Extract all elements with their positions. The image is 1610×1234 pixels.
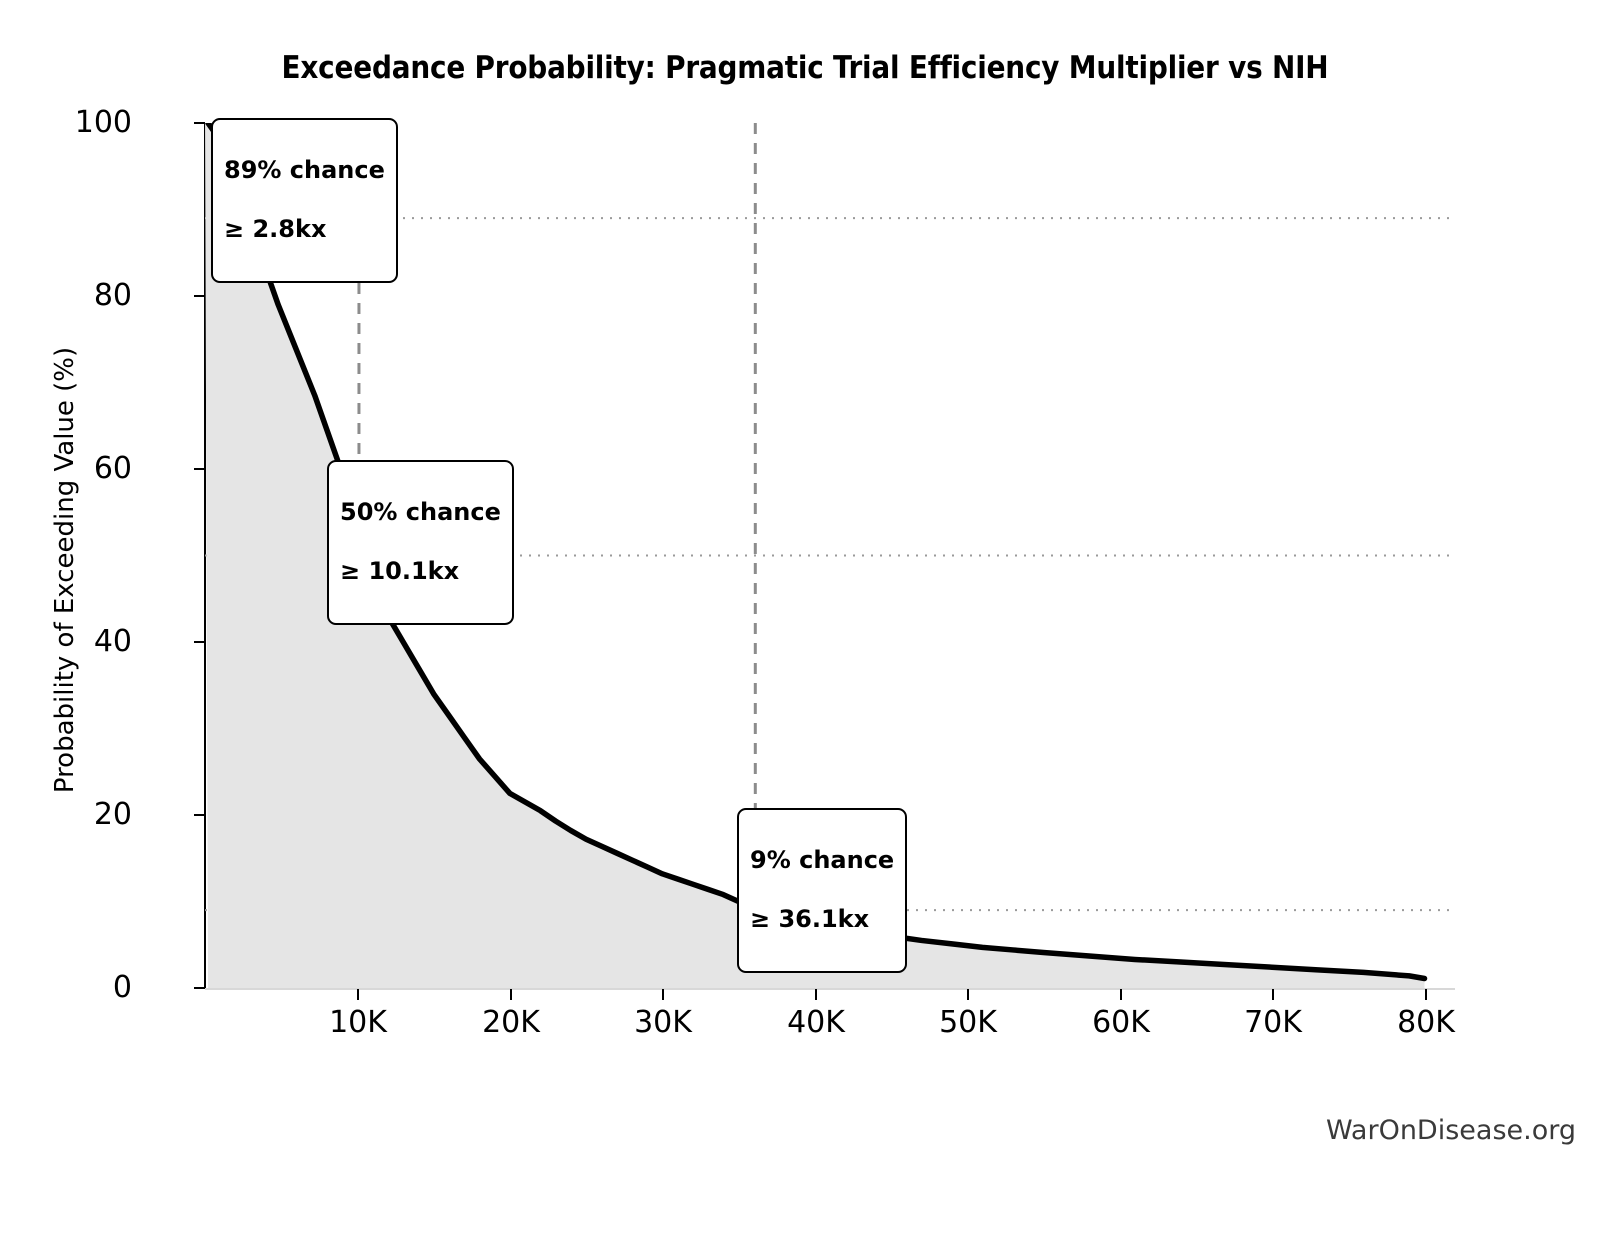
y-tick-label-100: 100 [62,105,132,140]
x-tick-mark-80K [1425,989,1427,1000]
x-tick-mark-10K [357,989,359,1000]
x-tick-label-60K: 60K [1051,1005,1191,1040]
y-tick-label-80: 80 [62,278,132,313]
x-tick-label-70K: 70K [1203,1005,1343,1040]
x-tick-label-50K: 50K [898,1005,1038,1040]
x-tick-label-10K: 10K [288,1005,428,1040]
x-tick-label-20K: 20K [441,1005,581,1040]
y-tick-label-60: 60 [62,451,132,486]
chart-figure: Exceedance Probability: Pragmatic Trial … [0,0,1610,1234]
x-tick-label-30K: 30K [593,1005,733,1040]
annotation-9-line1: 9% chance [750,846,894,875]
x-tick-mark-40K [815,989,817,1000]
x-axis-line [205,988,1455,990]
annotation-callout-9: 9% chance ≥ 36.1kx [737,808,907,973]
watermark: WarOnDisease.org [1326,1115,1576,1146]
x-tick-label-40K: 40K [746,1005,886,1040]
chart-title: Exceedance Probability: Pragmatic Trial … [0,50,1610,86]
y-tick-label-0: 0 [62,970,132,1005]
y-tick-label-40: 40 [62,624,132,659]
x-tick-mark-70K [1272,989,1274,1000]
x-tick-mark-50K [967,989,969,1000]
annotation-50-line1: 50% chance [340,498,501,527]
x-tick-mark-60K [1120,989,1122,1000]
annotation-50-line2: ≥ 10.1kx [340,557,501,586]
annotation-89-line1: 89% chance [224,156,385,185]
x-tick-label-80K: 80K [1356,1005,1496,1040]
annotation-callout-50: 50% chance ≥ 10.1kx [327,460,514,625]
annotation-callout-89: 89% chance ≥ 2.8kx [211,118,398,283]
annotation-89-line2: ≥ 2.8kx [224,215,385,244]
y-tick-label-20: 20 [62,797,132,832]
annotation-9-line2: ≥ 36.1kx [750,905,894,934]
x-tick-mark-20K [510,989,512,1000]
x-tick-mark-30K [662,989,664,1000]
